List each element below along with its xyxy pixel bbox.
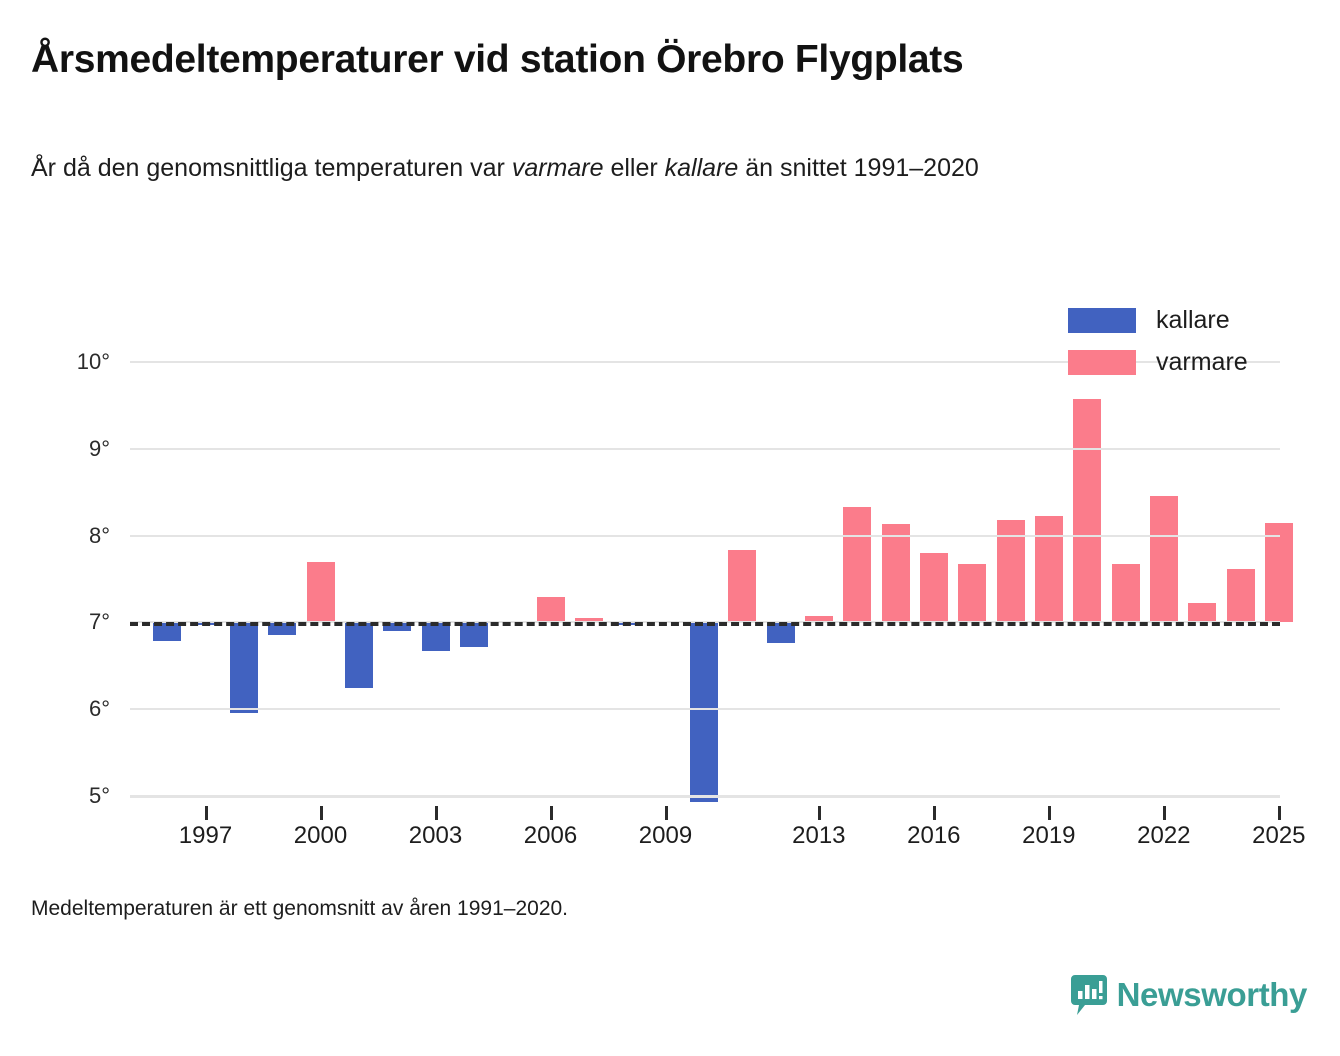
bar-2015[interactable] (882, 524, 910, 622)
x-tick-2022 (1163, 806, 1166, 820)
x-tick-2013 (818, 806, 821, 820)
bar-2003[interactable] (422, 622, 450, 651)
gridline-8 (130, 535, 1280, 537)
bar-2024[interactable] (1227, 569, 1255, 623)
bar-2014[interactable] (843, 507, 871, 622)
gridline-6 (130, 708, 1280, 710)
y-tick-label-5: 5° (40, 783, 110, 809)
x-tick-label-2009: 2009 (639, 822, 692, 850)
y-tick-label-7: 7° (40, 609, 110, 635)
legend-swatch-kallare (1068, 308, 1136, 333)
x-tick-2025 (1278, 806, 1281, 820)
legend-label-varmare: varmare (1156, 348, 1248, 377)
plot-area (130, 362, 1280, 796)
x-axis-line (130, 796, 1280, 798)
bar-2021[interactable] (1112, 564, 1140, 622)
newsworthy-wordmark: Newsworthy (1117, 976, 1307, 1014)
bar-2017[interactable] (958, 564, 986, 622)
bar-2010[interactable] (690, 622, 718, 802)
x-tick-2000 (320, 806, 323, 820)
bar-2000[interactable] (307, 562, 335, 623)
x-tick-label-2016: 2016 (907, 822, 960, 850)
x-tick-label-2006: 2006 (524, 822, 577, 850)
bar-2023[interactable] (1188, 603, 1216, 622)
x-tick-2019 (1048, 806, 1051, 820)
x-tick-1997 (205, 806, 208, 820)
gridline-9 (130, 448, 1280, 450)
bar-series (130, 362, 1280, 796)
x-tick-2016 (933, 806, 936, 820)
chart-page: Årsmedeltemperaturer vid station Örebro … (0, 0, 1340, 1056)
legend-item-kallare[interactable]: kallare (1068, 300, 1248, 340)
y-tick-label-9: 9° (40, 436, 110, 462)
x-tick-2006 (550, 806, 553, 820)
legend-label-kallare: kallare (1156, 306, 1230, 335)
bar-2016[interactable] (920, 553, 948, 622)
x-tick-label-1997: 1997 (179, 822, 232, 850)
x-tick-label-2022: 2022 (1137, 822, 1190, 850)
y-tick-label-6: 6° (40, 696, 110, 722)
bar-2006[interactable] (537, 597, 565, 622)
legend-item-varmare[interactable]: varmare (1068, 342, 1248, 382)
y-axis-labels: 5°6°7°8°9°10° (40, 362, 110, 796)
footnote: Medeltemperaturen är ett genomsnitt av å… (31, 897, 568, 921)
bar-2022[interactable] (1150, 496, 1178, 623)
y-tick-label-10: 10° (40, 349, 110, 375)
average-baseline (130, 622, 1280, 626)
x-tick-2003 (435, 806, 438, 820)
x-tick-2009 (665, 806, 668, 820)
x-tick-label-2025: 2025 (1252, 822, 1305, 850)
x-tick-label-2019: 2019 (1022, 822, 1075, 850)
bar-1998[interactable] (230, 622, 258, 712)
x-tick-label-2003: 2003 (409, 822, 462, 850)
chart-legend: kallare varmare (1068, 300, 1248, 384)
newsworthy-mark-icon (1071, 975, 1107, 1015)
legend-swatch-varmare (1068, 350, 1136, 375)
y-tick-label-8: 8° (40, 523, 110, 549)
x-tick-label-2013: 2013 (792, 822, 845, 850)
newsworthy-logo[interactable]: Newsworthy (1071, 975, 1307, 1015)
bar-2011[interactable] (728, 550, 756, 622)
bar-2001[interactable] (345, 622, 373, 688)
bar-2019[interactable] (1035, 516, 1063, 623)
bar-2025[interactable] (1265, 523, 1293, 623)
x-tick-label-2000: 2000 (294, 822, 347, 850)
bar-2020[interactable] (1073, 399, 1101, 622)
